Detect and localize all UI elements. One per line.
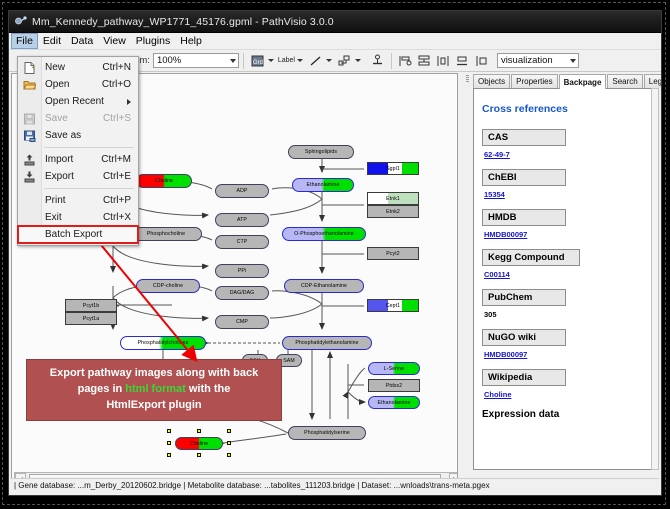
export-icon <box>23 170 36 183</box>
node-ctp[interactable]: CTP <box>215 235 269 249</box>
submenu-arrow-icon <box>127 99 131 105</box>
selection-handles <box>167 429 231 458</box>
menu-help[interactable]: Help <box>175 33 207 49</box>
node-pcyt1b[interactable]: Pcyt1b <box>65 299 117 312</box>
toolbar-separator-2 <box>391 53 392 69</box>
connector-dropdown-icon[interactable] <box>355 59 361 62</box>
menu-file[interactable]: File <box>11 33 38 49</box>
node-pcyt1a[interactable]: Pcyt1a <box>65 312 117 325</box>
save-disk-icon <box>23 112 36 125</box>
connector-tool-button[interactable] <box>335 52 354 70</box>
line-tool-button[interactable] <box>306 52 325 70</box>
xref-source-hmdb: HMDB <box>482 209 566 226</box>
menu-item-save-as-label: Save as <box>45 130 81 141</box>
callout-line-2-b: with the <box>186 383 231 395</box>
callout-highlight: html format <box>125 383 186 395</box>
status-text: | Gene database: ...m_Derby_20120602.bri… <box>14 481 490 490</box>
menu-item-import-accel: Ctrl+M <box>101 154 131 165</box>
chevron-down-icon <box>230 59 236 63</box>
node-o-phosphoethanolamine[interactable]: O-Phosphoethanolamine <box>282 227 366 241</box>
grid-dropdown-icon[interactable] <box>268 59 274 62</box>
menu-item-open-recent[interactable]: Open Recent <box>18 93 138 110</box>
menu-item-export-accel: Ctrl+E <box>103 171 131 182</box>
node-dag[interactable]: DAG/DAG <box>215 286 269 300</box>
callout-line-2: pages in html format with the <box>27 381 281 397</box>
sidebar-vertical-scrollbar[interactable] <box>651 88 659 470</box>
sidebar-tabstrip: Objects Properties Backpage Search Legen… <box>464 73 659 88</box>
xref-source-chebi: ChEBI <box>482 169 566 186</box>
menu-item-batch-export[interactable]: Batch Export <box>18 226 138 243</box>
node-cdp-choline[interactable]: CDP-choline <box>136 279 200 293</box>
tab-backpage[interactable]: Backpage <box>559 74 607 89</box>
handle-se[interactable] <box>227 453 231 457</box>
menu-item-new-accel: Ctrl+N <box>102 62 131 73</box>
menu-separator-1 <box>44 147 134 148</box>
node-phosphatidylcholines[interactable]: Phosphatidylcholines <box>120 336 206 350</box>
node-phosphatidylethanolamine[interactable]: Phosphatidylethanolamine <box>282 336 372 350</box>
menu-bar: File Edit Data View Plugins Help <box>9 33 661 50</box>
screenshot-root: Mm_Kennedy_pathway_WP1771_45176.gpml - P… <box>0 0 670 509</box>
menu-item-save-as[interactable]: Save as <box>18 127 138 144</box>
node-ethanolamine-2[interactable]: Ethanolamine <box>368 396 420 409</box>
toolbar-separator <box>243 53 244 69</box>
save-as-icon <box>23 129 36 142</box>
node-pcyt2[interactable]: Pcyt2 <box>367 247 419 260</box>
xref-value-cas[interactable]: 62-49-7 <box>484 150 646 159</box>
handle-n[interactable] <box>197 429 201 433</box>
node-sphingolipids[interactable]: Sphingolipids <box>288 145 354 159</box>
menu-item-save-accel: Ctrl+S <box>103 113 131 124</box>
menu-item-print[interactable]: Print Ctrl+P <box>18 192 138 209</box>
xref-source-kegg: Kegg Compound <box>482 249 580 266</box>
tab-grip-icon <box>466 75 471 85</box>
open-folder-icon <box>23 78 36 91</box>
node-phosphocholine[interactable]: Phosphocholine <box>130 227 202 241</box>
backpage-panel: Cross references CAS 62-49-7 ChEBI 15354… <box>473 88 655 470</box>
new-document-icon <box>23 61 36 74</box>
title-bar: Mm_Kennedy_pathway_WP1771_45176.gpml - P… <box>9 11 661 33</box>
handle-w[interactable] <box>167 441 171 445</box>
menu-item-exit-label: Exit <box>45 212 62 223</box>
pathvisio-icon <box>14 15 27 28</box>
node-cept1[interactable]: Cept1 <box>367 299 419 312</box>
svg-text:Grd: Grd <box>253 60 263 66</box>
backpage-title: Cross references <box>482 103 646 115</box>
callout-line-1: Export pathway images along with back <box>27 365 281 381</box>
menu-item-print-accel: Ctrl+P <box>103 195 131 206</box>
callout-box: Export pathway images along with back pa… <box>26 359 282 421</box>
application-window: Mm_Kennedy_pathway_WP1771_45176.gpml - P… <box>8 10 662 496</box>
import-icon <box>23 153 36 166</box>
tab-legend[interactable]: Legend <box>644 74 662 88</box>
node-cdp-ethanolamine[interactable]: CDP-Ethanolamine <box>284 279 364 293</box>
callout-line-2-a: pages in <box>78 383 126 395</box>
grid-toggle-button[interactable]: Grd <box>248 52 267 70</box>
node-atp[interactable]: ATP <box>215 213 269 227</box>
tab-properties[interactable]: Properties <box>511 74 557 88</box>
handle-s[interactable] <box>197 453 201 457</box>
xref-value-nugo[interactable]: HMDB00097 <box>484 350 646 359</box>
align-left-button[interactable] <box>396 52 415 70</box>
label-tool-button[interactable]: Label <box>277 52 296 70</box>
xref-value-wikipedia[interactable]: Choline <box>484 390 646 399</box>
node-cmp[interactable]: CMP <box>215 315 269 329</box>
node-choline[interactable]: Choline <box>136 174 192 188</box>
xref-source-wikipedia: Wikipedia <box>482 369 566 386</box>
xref-source-pubchem: PubChem <box>482 289 566 306</box>
line-dropdown-icon[interactable] <box>326 59 332 62</box>
file-menu-dropdown[interactable]: New Ctrl+N Open Ctrl+O Open Recent Save <box>17 56 139 246</box>
tab-objects[interactable]: Objects <box>473 74 510 88</box>
node-ppi[interactable]: PPi <box>215 264 269 278</box>
menu-item-new-label: New <box>45 62 65 73</box>
size-button[interactable] <box>472 52 491 70</box>
label-dropdown-icon[interactable] <box>297 59 303 62</box>
expression-data-heading: Expression data <box>482 409 646 420</box>
anchor-tool-button[interactable] <box>368 52 387 70</box>
menu-item-import[interactable]: Import Ctrl+M <box>18 151 138 168</box>
callout-line-3: HtmlExport plugin <box>27 397 281 413</box>
menu-item-import-label: Import <box>45 154 73 165</box>
menu-item-save-label: Save <box>45 113 68 124</box>
sidebar: Objects Properties Backpage Search Legen… <box>464 73 659 485</box>
menu-item-exit[interactable]: Exit Ctrl+X <box>18 209 138 226</box>
xref-source-nugo: NuGO wiki <box>482 329 566 346</box>
node-ptdss2[interactable]: Ptdss2 <box>368 379 420 392</box>
status-bar: | Gene database: ...m_Derby_20120602.bri… <box>11 478 659 492</box>
menu-data[interactable]: Data <box>66 33 98 49</box>
menu-item-exit-accel: Ctrl+X <box>103 212 131 223</box>
window-title: Mm_Kennedy_pathway_WP1771_45176.gpml - P… <box>32 16 334 28</box>
handle-nw[interactable] <box>167 429 171 433</box>
menu-item-print-label: Print <box>45 195 66 206</box>
visualization-combo[interactable]: visualization <box>497 53 579 68</box>
group-button[interactable] <box>453 52 472 70</box>
menu-item-save: Save Ctrl+S <box>18 110 138 127</box>
handle-e[interactable] <box>227 441 231 445</box>
node-phosphatidylserine[interactable]: Phosphatidylserine <box>288 426 366 440</box>
tab-search[interactable]: Search <box>607 74 642 88</box>
menu-edit[interactable]: Edit <box>38 33 66 49</box>
menu-item-batch-export-label: Batch Export <box>45 229 102 240</box>
node-ethanolamine[interactable]: Ethanolamine <box>292 178 354 192</box>
handle-ne[interactable] <box>227 429 231 433</box>
menu-item-export[interactable]: Export Ctrl+E <box>18 168 138 185</box>
visualization-value: visualization <box>501 55 553 66</box>
menu-item-open-label: Open <box>45 79 69 90</box>
menu-item-open-recent-label: Open Recent <box>45 96 104 107</box>
menu-item-new[interactable]: New Ctrl+N <box>18 59 138 76</box>
menu-item-open[interactable]: Open Ctrl+O <box>18 76 138 93</box>
node-adp[interactable]: ADP <box>215 184 269 198</box>
handle-sw[interactable] <box>167 453 171 457</box>
node-l-serine[interactable]: L-Serine <box>368 362 420 375</box>
node-etnk2[interactable]: Etnk2 <box>367 205 419 218</box>
xref-value-pubchem: 305 <box>484 310 646 319</box>
distribute-button[interactable] <box>434 52 453 70</box>
node-sgpl1[interactable]: Sgpl1 <box>367 162 419 175</box>
node-etnk1[interactable]: Etnk1 <box>367 192 419 205</box>
align-stack-button[interactable] <box>415 52 434 70</box>
zoom-combo[interactable]: 100% <box>153 53 239 68</box>
menu-item-export-label: Export <box>45 171 74 182</box>
menu-item-open-accel: Ctrl+O <box>102 79 131 90</box>
xref-source-cas: CAS <box>482 129 566 146</box>
xref-value-kegg[interactable]: C00114 <box>484 270 646 279</box>
chevron-down-icon <box>570 59 576 63</box>
menu-view[interactable]: View <box>98 33 131 49</box>
menu-plugins[interactable]: Plugins <box>131 33 175 49</box>
xref-value-chebi[interactable]: 15354 <box>484 190 646 199</box>
menu-separator-2 <box>44 188 134 189</box>
zoom-value: 100% <box>157 55 181 66</box>
xref-value-hmdb[interactable]: HMDB00097 <box>484 230 646 239</box>
